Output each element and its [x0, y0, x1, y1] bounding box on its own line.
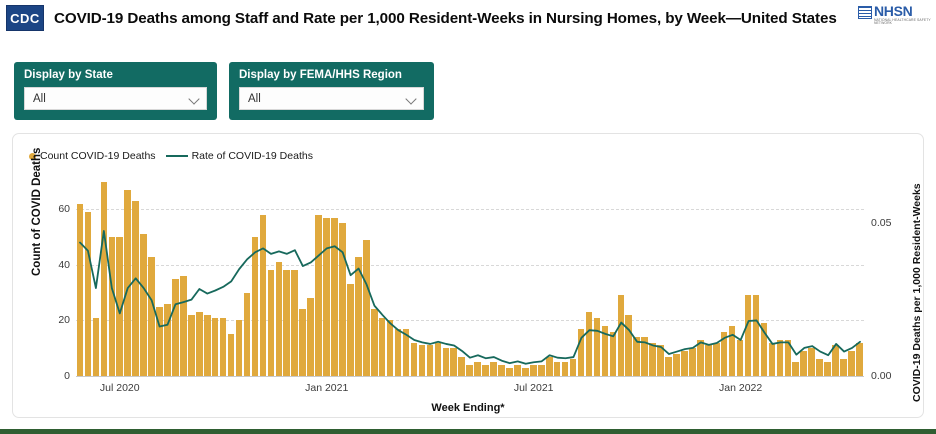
bar[interactable]	[196, 312, 203, 376]
bar[interactable]	[657, 345, 664, 376]
bar[interactable]	[140, 234, 147, 376]
bar[interactable]	[729, 326, 736, 376]
bar[interactable]	[848, 351, 855, 376]
bar[interactable]	[753, 295, 760, 376]
bar[interactable]	[443, 348, 450, 376]
bar[interactable]	[618, 295, 625, 376]
bar[interactable]	[816, 359, 823, 376]
bar[interactable]	[689, 348, 696, 376]
chevron-down-icon	[190, 94, 200, 104]
bar[interactable]	[538, 365, 545, 376]
bar[interactable]	[490, 362, 497, 376]
bar[interactable]	[212, 318, 219, 376]
bar[interactable]	[132, 201, 139, 376]
bar[interactable]	[482, 365, 489, 376]
x-axis-title: Week Ending*	[13, 402, 923, 414]
bar[interactable]	[594, 318, 601, 376]
bar[interactable]	[363, 240, 370, 376]
bar[interactable]	[403, 329, 410, 376]
bar[interactable]	[840, 359, 847, 376]
x-axis-tick-label: Jan 2022	[719, 382, 762, 394]
bar[interactable]	[148, 257, 155, 376]
nhsn-logo-subtitle: NATIONAL HEALTHCARE SAFETY NETWORK	[874, 19, 932, 26]
bar[interactable]	[785, 340, 792, 376]
bar[interactable]	[164, 304, 171, 376]
bar[interactable]	[602, 326, 609, 376]
bar[interactable]	[427, 345, 434, 376]
bar[interactable]	[109, 237, 116, 376]
bar[interactable]	[625, 315, 632, 376]
plot-area: 0204060 0.000.05	[76, 176, 864, 376]
bar[interactable]	[506, 368, 513, 376]
bar[interactable]	[466, 365, 473, 376]
bar[interactable]	[554, 362, 561, 376]
page-title: COVID-19 Deaths among Staff and Rate per…	[54, 10, 837, 27]
bar[interactable]	[188, 315, 195, 376]
cdc-logo-icon: CDC	[6, 5, 44, 31]
bar[interactable]	[101, 182, 108, 376]
bar[interactable]	[435, 343, 442, 376]
bar[interactable]	[856, 343, 863, 376]
bar[interactable]	[721, 332, 728, 376]
cdc-logo-text: CDC	[10, 11, 40, 26]
filter-label-state: Display by State	[24, 69, 207, 81]
bar[interactable]	[220, 318, 227, 376]
chevron-down-icon	[407, 94, 417, 104]
y-axis-right-title: COVID-19 Deaths per 1,000 Resident-Weeks	[911, 183, 923, 402]
footer-bar	[0, 429, 936, 434]
bar[interactable]	[124, 190, 131, 376]
filter-bar: Display by State All Display by FEMA/HHS…	[14, 62, 434, 120]
bar[interactable]	[641, 337, 648, 376]
y-axis-left-tick-label: 40	[58, 259, 70, 271]
x-axis-tick-label: Jan 2021	[305, 382, 348, 394]
y-axis-left-title: Count of COVID Deaths	[31, 148, 43, 276]
bar[interactable]	[172, 279, 179, 376]
legend-line-icon	[166, 155, 188, 158]
bar[interactable]	[649, 343, 656, 376]
nhsn-logo: NHSN NATIONAL HEALTHCARE SAFETY NETWORK	[858, 4, 932, 32]
filter-label-region: Display by FEMA/HHS Region	[239, 69, 424, 81]
x-axis-baseline	[76, 376, 864, 377]
bar[interactable]	[180, 276, 187, 376]
bar[interactable]	[347, 284, 354, 376]
y-axis-left-tick-label: 60	[58, 203, 70, 215]
x-axis-tick-label: Jul 2021	[514, 382, 554, 394]
legend-item-count[interactable]: Count COVID-19 Deaths	[29, 150, 156, 162]
bar[interactable]	[371, 309, 378, 376]
bar[interactable]	[228, 334, 235, 376]
bar[interactable]	[610, 332, 617, 376]
legend-item-rate[interactable]: Rate of COVID-19 Deaths	[166, 150, 313, 162]
region-dropdown-value: All	[248, 93, 407, 105]
bar[interactable]	[307, 298, 314, 376]
bar[interactable]	[514, 365, 521, 376]
bar[interactable]	[633, 337, 640, 376]
bar[interactable]	[737, 340, 744, 376]
bar[interactable]	[276, 262, 283, 376]
bar[interactable]	[411, 343, 418, 376]
dashboard-root: CDC COVID-19 Deaths among Staff and Rate…	[0, 0, 936, 434]
bar[interactable]	[578, 329, 585, 376]
y-axis-right-tick-label: 0.05	[871, 217, 891, 229]
bar[interactable]	[681, 351, 688, 376]
bar[interactable]	[769, 343, 776, 376]
filter-card-region: Display by FEMA/HHS Region All	[229, 62, 434, 120]
bar[interactable]	[315, 215, 322, 376]
bar[interactable]	[268, 270, 275, 376]
bar[interactable]	[77, 204, 84, 376]
bar[interactable]	[713, 343, 720, 376]
page-header: CDC COVID-19 Deaths among Staff and Rate…	[0, 0, 936, 36]
nhsn-logo-name: NHSN	[874, 4, 932, 18]
legend-label-count: Count COVID-19 Deaths	[40, 150, 156, 162]
bar[interactable]	[808, 348, 815, 376]
bar[interactable]	[705, 345, 712, 376]
bar[interactable]	[339, 223, 346, 376]
bar[interactable]	[761, 323, 768, 376]
nhsn-logo-textblock: NHSN NATIONAL HEALTHCARE SAFETY NETWORK	[874, 4, 932, 26]
bar[interactable]	[792, 362, 799, 376]
bar[interactable]	[419, 345, 426, 376]
bar[interactable]	[570, 359, 577, 376]
bar[interactable]	[745, 295, 752, 376]
y-axis-right-tick-label: 0.00	[871, 370, 891, 382]
filter-card-state: Display by State All	[14, 62, 217, 120]
chart-legend: Count COVID-19 Deaths Rate of COVID-19 D…	[29, 150, 313, 162]
bar[interactable]	[204, 315, 211, 376]
bar[interactable]	[355, 257, 362, 376]
bar[interactable]	[697, 340, 704, 376]
bar[interactable]	[156, 307, 163, 376]
bar[interactable]	[291, 270, 298, 376]
state-dropdown-value: All	[33, 93, 190, 105]
bar[interactable]	[395, 329, 402, 376]
nhsn-monitor-icon	[858, 6, 872, 19]
bar[interactable]	[116, 237, 123, 376]
chart-panel: Count COVID-19 Deaths Rate of COVID-19 D…	[12, 133, 924, 418]
bar[interactable]	[252, 237, 259, 376]
bar[interactable]	[777, 340, 784, 376]
bar[interactable]	[331, 218, 338, 376]
legend-label-rate: Rate of COVID-19 Deaths	[192, 150, 313, 162]
y-axis-left-tick-label: 0	[64, 370, 70, 382]
bar[interactable]	[244, 293, 251, 376]
bar[interactable]	[546, 357, 553, 376]
bar-series	[76, 176, 864, 376]
bar[interactable]	[450, 348, 457, 376]
bar[interactable]	[85, 212, 92, 376]
region-dropdown[interactable]: All	[239, 87, 424, 110]
bar[interactable]	[260, 215, 267, 376]
bar[interactable]	[665, 357, 672, 376]
bar[interactable]	[93, 318, 100, 376]
bar[interactable]	[562, 362, 569, 376]
bar[interactable]	[299, 309, 306, 376]
x-axis-tick-label: Jul 2020	[100, 382, 140, 394]
bar[interactable]	[458, 357, 465, 376]
bar[interactable]	[379, 318, 386, 376]
bar[interactable]	[498, 365, 505, 376]
bar[interactable]	[673, 354, 680, 376]
bar[interactable]	[824, 362, 831, 376]
bar[interactable]	[586, 312, 593, 376]
bar[interactable]	[522, 368, 529, 376]
bar[interactable]	[832, 345, 839, 376]
bar[interactable]	[800, 351, 807, 376]
bar[interactable]	[387, 320, 394, 376]
bar[interactable]	[530, 365, 537, 376]
bar[interactable]	[323, 218, 330, 376]
bar[interactable]	[474, 362, 481, 376]
bar[interactable]	[283, 270, 290, 376]
bar[interactable]	[236, 320, 243, 376]
state-dropdown[interactable]: All	[24, 87, 207, 110]
y-axis-left-tick-label: 20	[58, 314, 70, 326]
